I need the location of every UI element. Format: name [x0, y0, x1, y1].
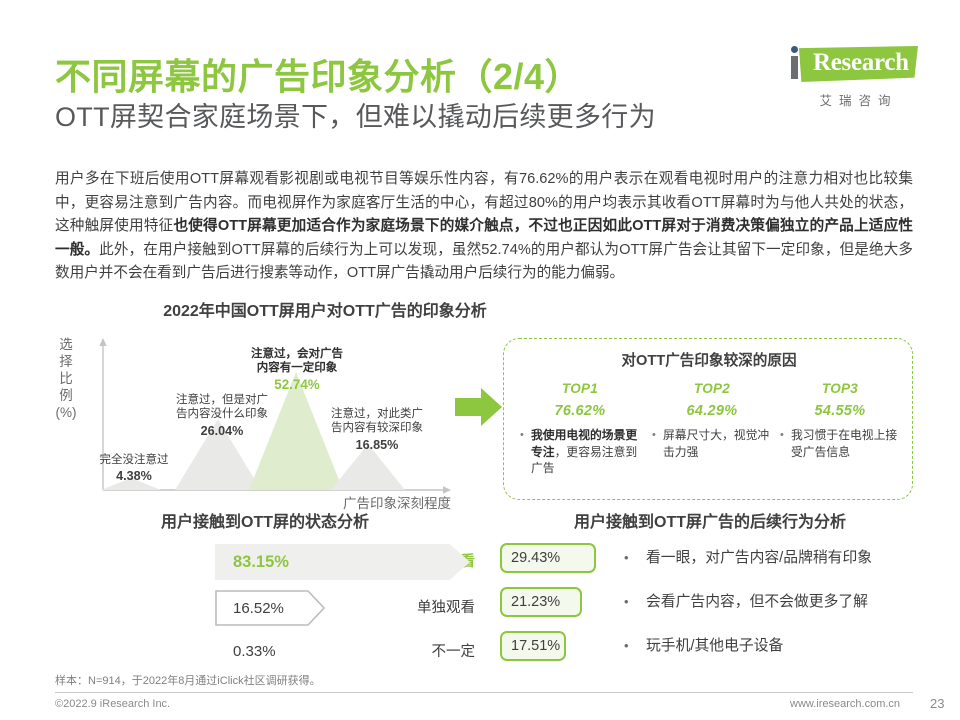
reason-column-top2: TOP2 64.29% • 屏幕尺寸大，视觉冲击力强	[652, 381, 772, 460]
reason-pct-3: 54.55%	[780, 403, 900, 419]
behaviour-bullet-1: •	[624, 543, 629, 573]
reason-rank-3: TOP3	[780, 381, 900, 396]
chart-peak-value-4: 16.85%	[313, 438, 441, 453]
chart-title: 2022年中国OTT屏用户对OTT广告的印象分析	[163, 297, 487, 321]
funnel-value-1: 83.15%	[233, 553, 289, 572]
reason-rank-1: TOP1	[520, 381, 640, 396]
chart-peak-label-4: 注意过，对此类广 告内容有较深印象 16.85%	[313, 392, 441, 467]
behaviour-value-1: 29.43%	[511, 550, 560, 566]
reason-text-3: 我习惯于在电视上接受广告信息	[791, 427, 900, 460]
logo-i-dot-icon	[791, 46, 798, 53]
chart-title-row: 2022年中国OTT屏用户对OTT广告的印象分析	[0, 297, 960, 321]
behaviour-value-2: 21.23%	[511, 594, 560, 610]
chart-peak-value-2: 26.04%	[158, 424, 286, 439]
footer-website[interactable]: www.iresearch.com.cn	[790, 698, 900, 710]
page-title: 不同屏幕的广告印象分析（2/4）	[55, 48, 581, 100]
followup-behaviour-panel: 用户接触到OTT屏广告的后续行为分析 29.43% • 看一眼，对广告内容/品牌…	[500, 508, 920, 668]
funnel-row-1: 与他人一同观看 83.15%	[55, 544, 475, 580]
reason-text-1: 我使用电视的场景更专注，更容易注意到广告	[531, 427, 640, 477]
funnel-value-3: 0.33%	[233, 634, 276, 670]
behaviour-chip-2: 21.23%	[500, 587, 582, 617]
iresearch-logo: Research 艾瑞咨询	[783, 44, 918, 110]
chart-peak-label-3-text: 注意过，会对广告 内容有一定印象	[251, 348, 343, 375]
reason-bullet-1: •	[520, 427, 531, 477]
behaviour-desc-3: 玩手机/其他电子设备	[646, 631, 783, 661]
footer-copyright: ©2022.9 iResearch Inc.	[55, 698, 170, 710]
behaviour-bullet-2: •	[624, 587, 629, 617]
behaviour-chip-1: 29.43%	[500, 543, 596, 573]
behaviour-chip-3: 17.51%	[500, 631, 566, 661]
behaviour-desc-1: 看一眼，对广告内容/品牌稍有印象	[646, 543, 872, 573]
reason-pct-2: 64.29%	[652, 403, 772, 419]
logo-chinese-name: 艾瑞咨询	[799, 90, 918, 109]
page-subtitle: OTT屏契合家庭场景下，但难以撬动后续更多行为	[55, 95, 656, 134]
behaviour-desc-2: 会看广告内容，但不会做更多了解	[646, 587, 868, 617]
y-axis-arrowhead	[99, 338, 106, 346]
funnel-value-2: 16.52%	[233, 600, 284, 617]
sample-note: 样本：N=914，于2022年8月通过iClick社区调研获得。	[55, 672, 321, 688]
chart-peak-value-3: 52.74%	[233, 378, 361, 393]
footer-divider	[55, 692, 913, 693]
impression-mountain-chart: 选择比例(%) 完全没注意过 4.38% 注意过，但是对广 告内容没什么印象 2…	[55, 330, 475, 520]
reason-item-3: • 我习惯于在电视上接受广告信息	[780, 427, 900, 460]
behaviour-title: 用户接触到OTT屏广告的后续行为分析	[500, 508, 920, 532]
funnel-row-2: 单独观看 16.52%	[55, 590, 475, 626]
funnel-row-3: 不一定 0.33%	[55, 634, 475, 670]
behaviour-row-1: 29.43% • 看一眼，对广告内容/品牌稍有印象	[500, 543, 920, 573]
right-arrow-icon	[455, 388, 503, 426]
reason-column-top1: TOP1 76.62% • 我使用电视的场景更专注，更容易注意到广告	[520, 381, 640, 477]
reasons-panel: 对OTT广告印象较深的原因 TOP1 76.62% • 我使用电视的场景更专注，…	[503, 338, 913, 500]
logo-wordmark: Research	[813, 49, 909, 77]
slide-root: Research 艾瑞咨询 不同屏幕的广告印象分析（2/4） OTT屏契合家庭场…	[0, 0, 960, 720]
reason-rank-2: TOP2	[652, 381, 772, 396]
footer-page-number: 23	[930, 696, 944, 711]
funnel-bar-2: 16.52%	[215, 590, 325, 626]
chart-peak-label-4-text: 注意过，对此类广 告内容有较深印象	[331, 408, 423, 435]
state-funnel-chart: 用户接触到OTT屏的状态分析 与他人一同观看 83.15% 单独观看 16.52…	[55, 508, 475, 668]
chart-peak-value-1: 4.38%	[73, 469, 195, 484]
funnel-bar-1: 83.15%	[215, 544, 470, 580]
behaviour-row-3: 17.51% • 玩手机/其他电子设备	[500, 631, 920, 661]
body-part-2: 此外，在用户接触到OTT屏幕的后续行为上可以发现，虽然52.74%的用户都认为O…	[55, 242, 913, 282]
reason-item-2: • 屏幕尺寸大，视觉冲击力强	[652, 427, 772, 460]
reasons-title: 对OTT广告印象较深的原因	[504, 349, 914, 370]
logo-mark: Research	[783, 44, 918, 86]
reason-column-top3: TOP3 54.55% • 我习惯于在电视上接受广告信息	[780, 381, 900, 460]
logo-i-stem-icon	[791, 56, 798, 79]
reason-pct-1: 76.62%	[520, 403, 640, 419]
funnel-label-2: 单独观看	[325, 590, 475, 626]
reason-bullet-3: •	[780, 427, 791, 460]
body-paragraph: 用户多在下班后使用OTT屏幕观看影视剧或电视节目等娱乐性内容，有76.62%的用…	[55, 168, 913, 286]
reason-item-1: • 我使用电视的场景更专注，更容易注意到广告	[520, 427, 640, 477]
behaviour-bullet-3: •	[624, 631, 629, 661]
behaviour-value-3: 17.51%	[511, 638, 560, 654]
behaviour-row-2: 21.23% • 会看广告内容，但不会做更多了解	[500, 587, 920, 617]
funnel-title: 用户接触到OTT屏的状态分析	[55, 508, 475, 532]
reason-bullet-2: •	[652, 427, 663, 460]
chart-peak-label-1-text: 完全没注意过	[100, 454, 169, 466]
funnel-label-3: 不一定	[325, 634, 475, 670]
reason-text-2: 屏幕尺寸大，视觉冲击力强	[663, 427, 772, 460]
